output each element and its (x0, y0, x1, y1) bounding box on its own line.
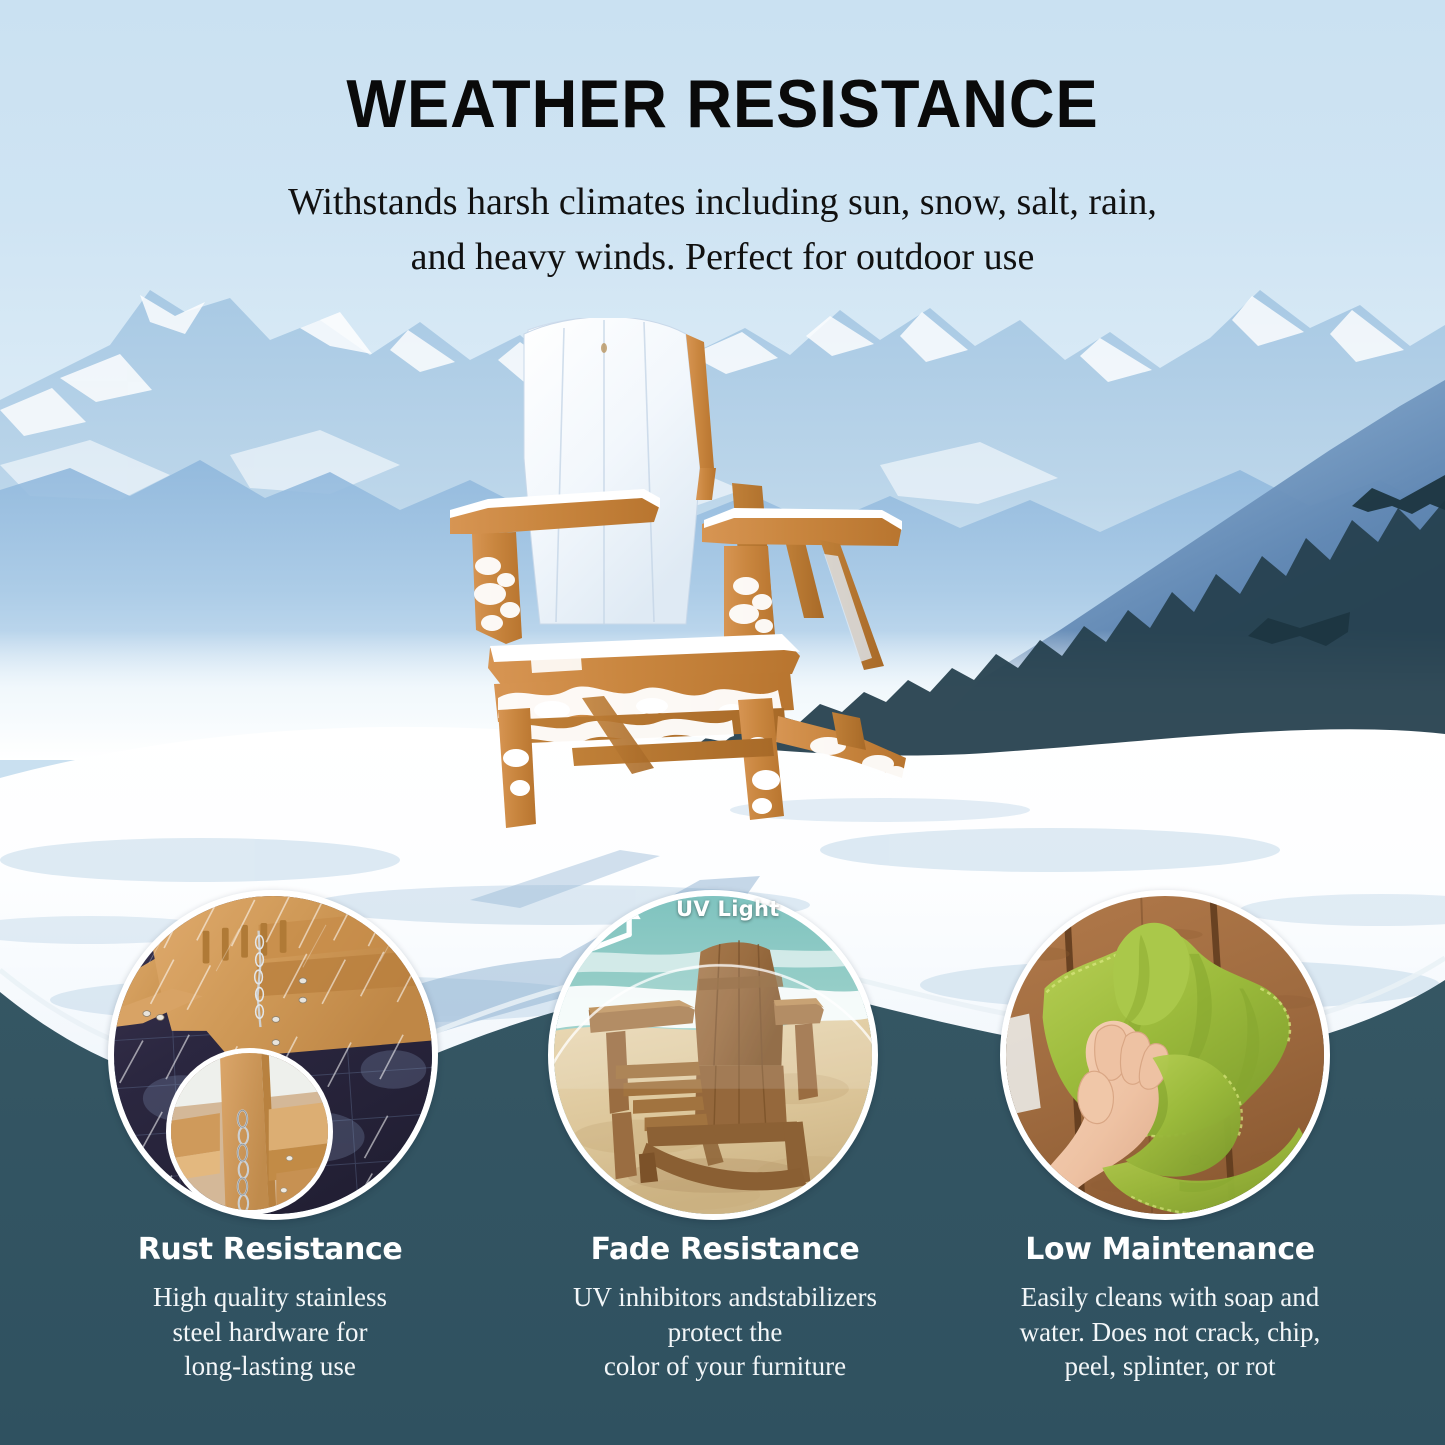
caption-body-fade-resistance: UV inhibitors andstabilizers protect the… (525, 1280, 925, 1384)
caption-line-1: UV inhibitors andstabilizers (573, 1282, 877, 1312)
caption-body-low-maintenance: Easily cleans with soap and water. Does … (970, 1280, 1370, 1384)
caption-line-3: color of your furniture (604, 1351, 846, 1381)
caption-line-2: water. Does not crack, chip, (1020, 1317, 1321, 1347)
caption-body-rust-resistance: High quality stainless steel hardware fo… (70, 1280, 470, 1384)
subtitle-line-2: and heavy winds. Perfect for outdoor use (0, 230, 1445, 285)
hero-adirondack-chair (432, 318, 952, 848)
caption-line-1: High quality stainless (153, 1282, 387, 1312)
caption-line-3: long-lasting use (184, 1351, 356, 1381)
subtitle-line-1: Withstands harsh climates including sun,… (0, 175, 1445, 230)
caption-line-2: protect the (668, 1317, 783, 1347)
low-maintenance-image (1006, 896, 1324, 1214)
page-subtitle: Withstands harsh climates including sun,… (0, 175, 1445, 285)
feature-circle-fade-resistance (548, 890, 878, 1220)
caption-low-maintenance: Low Maintenance Easily cleans with soap … (970, 1232, 1370, 1384)
caption-fade-resistance: Fade Resistance UV inhibitors andstabili… (525, 1232, 925, 1384)
caption-heading-fade-resistance: Fade Resistance (525, 1232, 925, 1267)
caption-heading-low-maintenance: Low Maintenance (970, 1232, 1370, 1267)
caption-rust-resistance: Rust Resistance High quality stainless s… (70, 1232, 470, 1384)
uv-light-label: UV Light (676, 897, 780, 921)
page-title: WEATHER RESISTANCE (51, 70, 1395, 138)
fade-resistance-image (554, 896, 872, 1214)
marketing-infographic: WEATHER RESISTANCE Withstands harsh clim… (0, 0, 1445, 1445)
stainless-chain-closeup (171, 1053, 328, 1210)
caption-heading-rust-resistance: Rust Resistance (70, 1232, 470, 1267)
caption-line-3: peel, splinter, or rot (1064, 1351, 1275, 1381)
caption-line-2: steel hardware for (173, 1317, 368, 1347)
feature-circle-low-maintenance (1000, 890, 1330, 1220)
caption-line-1: Easily cleans with soap and (1021, 1282, 1319, 1312)
rust-resistance-inset-closeup (166, 1048, 333, 1215)
